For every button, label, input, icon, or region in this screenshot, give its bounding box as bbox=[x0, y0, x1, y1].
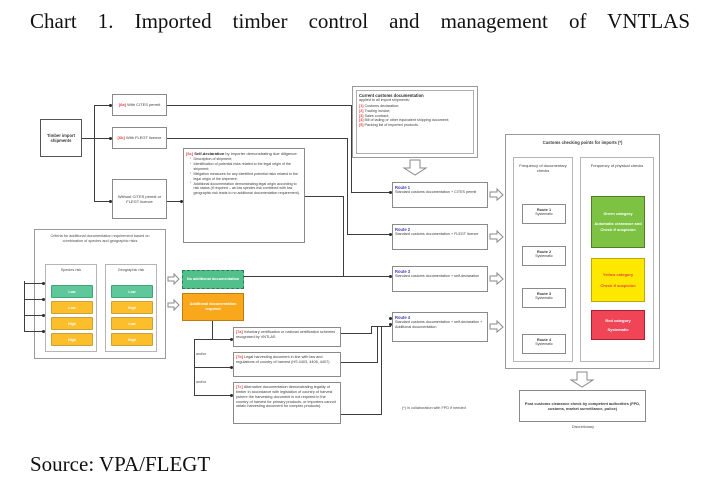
customs-doc-item: Customs declaration; bbox=[365, 104, 400, 108]
additional-doc-box-7a: [7a] Voluntary certification or national… bbox=[233, 327, 341, 347]
start-label: Timber import shipments bbox=[43, 133, 79, 144]
additional-doc-text-7a: Voluntary certification or national cert… bbox=[236, 330, 335, 339]
route-1-desc: Standard customs documentation + CITES p… bbox=[395, 190, 485, 195]
branch-tag-6a: [6a] bbox=[119, 102, 126, 107]
and-or-connector-1: and/or bbox=[196, 352, 206, 356]
documentary-checks-header: Frequency of documentary checks bbox=[514, 158, 572, 178]
species-risk-cell: High bbox=[51, 317, 93, 330]
checking-footnote: (*) in collaboration with FPD if needed bbox=[402, 406, 466, 410]
timber-import-shipments-box: Timber import shipments bbox=[40, 119, 82, 157]
additional-doc-text-7c: Alternative documentation demonstrating … bbox=[236, 385, 336, 408]
right-arrow-icon bbox=[490, 273, 504, 285]
geographic-risk-cell: High bbox=[111, 333, 153, 346]
geographic-risk-cell: Low bbox=[111, 317, 153, 330]
customs-doc-item: Trading invoice; bbox=[364, 109, 390, 113]
diagram-figure: Timber import shipments [6a] With CITES … bbox=[22, 84, 682, 440]
documentary-checks-column: Frequency of documentary checks Route 1 … bbox=[513, 157, 573, 362]
customs-doc-item: Sales contract; bbox=[365, 114, 389, 118]
customs-doc-tag: [2] bbox=[359, 109, 364, 113]
no-additional-documentation-box: No additional documentation bbox=[182, 270, 244, 289]
branch-box-flegt: [6b] With FLEGT licence bbox=[112, 127, 167, 149]
customs-documentation-box: Current customs documentation applied to… bbox=[356, 90, 474, 154]
right-arrow-icon bbox=[168, 274, 180, 285]
red-category-desc: Systematic bbox=[607, 327, 628, 333]
additional-doc-box-7c: [7c] Alternative documentation demonstra… bbox=[233, 382, 341, 424]
right-arrow-icon bbox=[168, 300, 180, 311]
route-4-desc: Standard customs documentation + self-de… bbox=[395, 320, 485, 329]
additional-doc-text-7b: Legal harvesting document in line with l… bbox=[236, 355, 330, 364]
self-declaration-intro: by importer demonstrating due diligence: bbox=[225, 151, 297, 156]
yellow-category-name: Yellow category bbox=[603, 272, 633, 278]
self-declaration-bullet: Additional documentation demonstrating l… bbox=[190, 182, 302, 196]
species-risk-column: Species risk Low Low High High bbox=[45, 264, 97, 352]
species-risk-cell: Low bbox=[51, 301, 93, 314]
down-arrow-icon bbox=[570, 372, 594, 388]
down-arrow-icon bbox=[403, 160, 427, 176]
species-risk-header: Species risk bbox=[46, 265, 96, 275]
customs-documentation-panel: Current customs documentation applied to… bbox=[352, 86, 478, 158]
self-declaration-bullet: Identification of potential risks relate… bbox=[190, 162, 302, 171]
route-box-3: Route 3 Standard customs documentation +… bbox=[392, 266, 488, 292]
customs-doc-tag: [1] bbox=[359, 104, 364, 108]
yellow-category-desc: Check if suspicion bbox=[600, 283, 635, 289]
self-declaration-bullet: Mitigation measures for any identified p… bbox=[190, 172, 302, 181]
documentary-route-1-box: Route 1 Systematic bbox=[522, 204, 566, 224]
documentary-route-4-box: Route 4 Systematic bbox=[522, 334, 566, 354]
geographic-risk-cell: High bbox=[111, 301, 153, 314]
post-clearance-text: Post customs clearance check by competen… bbox=[522, 401, 643, 412]
customs-doc-tag: [4] bbox=[359, 118, 364, 122]
customs-doc-tag: [3] bbox=[359, 114, 364, 118]
checking-panel-title: Customs checking points for imports (*) bbox=[506, 135, 659, 149]
documentary-route-4-freq: Systematic bbox=[525, 342, 563, 347]
post-clearance-frequency: Discretionary bbox=[562, 425, 604, 429]
additional-doc-box-7b: [7b] Legal harvesting document in line w… bbox=[233, 352, 341, 377]
green-category-desc: Automatic clearance and Check if suspici… bbox=[594, 221, 642, 233]
customs-doc-item: Bill of lading or other equivalent shipp… bbox=[365, 118, 449, 122]
additional-doc-tag-7c: [7c] bbox=[236, 385, 243, 389]
criteria-title: Criteria for additional documentation re… bbox=[35, 230, 165, 246]
additional-doc-tag-7b: [7b] bbox=[236, 355, 243, 359]
documentary-route-1-freq: Systematic bbox=[525, 212, 563, 217]
documentary-route-3-freq: Systematic bbox=[525, 296, 563, 301]
branch-box-cites: [6a] With CITES permit bbox=[112, 94, 167, 116]
right-arrow-icon bbox=[490, 321, 504, 333]
page-title: Chart 1. Imported timber control and man… bbox=[30, 8, 690, 63]
self-declaration-box: [6c] Self-declaration by importer demons… bbox=[183, 148, 305, 243]
self-declaration-bullet: Description of shipment; bbox=[190, 157, 302, 162]
source-caption: Source: VPA/FLEGT bbox=[30, 452, 210, 477]
physical-checks-column: Frequency of physical checks Green categ… bbox=[580, 157, 654, 362]
self-declaration-bullets: Description of shipment; Identification … bbox=[190, 157, 302, 196]
branch-label-without: Without CITES permit or FLEGT licence bbox=[115, 194, 164, 204]
additional-documentation-required-box: Additional documentation required bbox=[182, 293, 244, 321]
route-box-1: Route 1 Standard customs documentation +… bbox=[392, 182, 488, 208]
post-clearance-box: Post customs clearance check by competen… bbox=[519, 390, 646, 422]
branch-label-flegt: With FLEGT licence bbox=[126, 135, 162, 140]
branch-label-cites: With CITES permit bbox=[127, 102, 160, 107]
physical-checks-header: Frequency of physical checks bbox=[581, 158, 653, 173]
documentary-route-3-box: Route 3 Systematic bbox=[522, 288, 566, 308]
customs-doc-subtitle: applied to all import shipments: bbox=[359, 98, 471, 103]
geographic-risk-column: Geographic risk Low High Low High bbox=[105, 264, 157, 352]
route-2-desc: Standard customs documentation + FLEGT l… bbox=[395, 232, 485, 237]
species-risk-cell: High bbox=[51, 333, 93, 346]
green-category-name: Green category bbox=[603, 211, 632, 217]
customs-doc-tag: [5] bbox=[359, 123, 364, 127]
green-category-box: Green category Automatic clearance and C… bbox=[591, 196, 645, 248]
right-arrow-icon bbox=[490, 189, 504, 201]
documentary-route-2-freq: Systematic bbox=[525, 254, 563, 259]
geographic-risk-cell: Low bbox=[111, 285, 153, 298]
and-or-connector-2: and/or bbox=[196, 380, 206, 384]
route-box-2: Route 2 Standard customs documentation +… bbox=[392, 224, 488, 250]
route-box-4: Route 4 Standard customs documentation +… bbox=[392, 312, 488, 342]
customs-doc-item: Packing list of imported products. bbox=[365, 123, 419, 127]
red-category-box: Red category Systematic bbox=[591, 310, 645, 340]
branch-box-without: Without CITES permit or FLEGT licence bbox=[112, 179, 167, 219]
geographic-risk-header: Geographic risk bbox=[106, 265, 156, 275]
route-3-desc: Standard customs documentation + self-de… bbox=[395, 274, 485, 279]
species-risk-cell: Low bbox=[51, 285, 93, 298]
red-category-name: Red category bbox=[605, 318, 630, 324]
criteria-panel: Criteria for additional documentation re… bbox=[34, 229, 166, 359]
self-declaration-title: Self-declaration bbox=[194, 151, 224, 156]
customs-checking-panel: Customs checking points for imports (*) … bbox=[505, 134, 660, 369]
yellow-category-box: Yellow category Check if suspicion bbox=[591, 258, 645, 302]
right-arrow-icon bbox=[490, 231, 504, 243]
additional-doc-tag-7a: [7a] bbox=[236, 330, 243, 334]
branch-tag-6b: [6b] bbox=[118, 135, 125, 140]
documentary-route-2-box: Route 2 Systematic bbox=[522, 246, 566, 266]
